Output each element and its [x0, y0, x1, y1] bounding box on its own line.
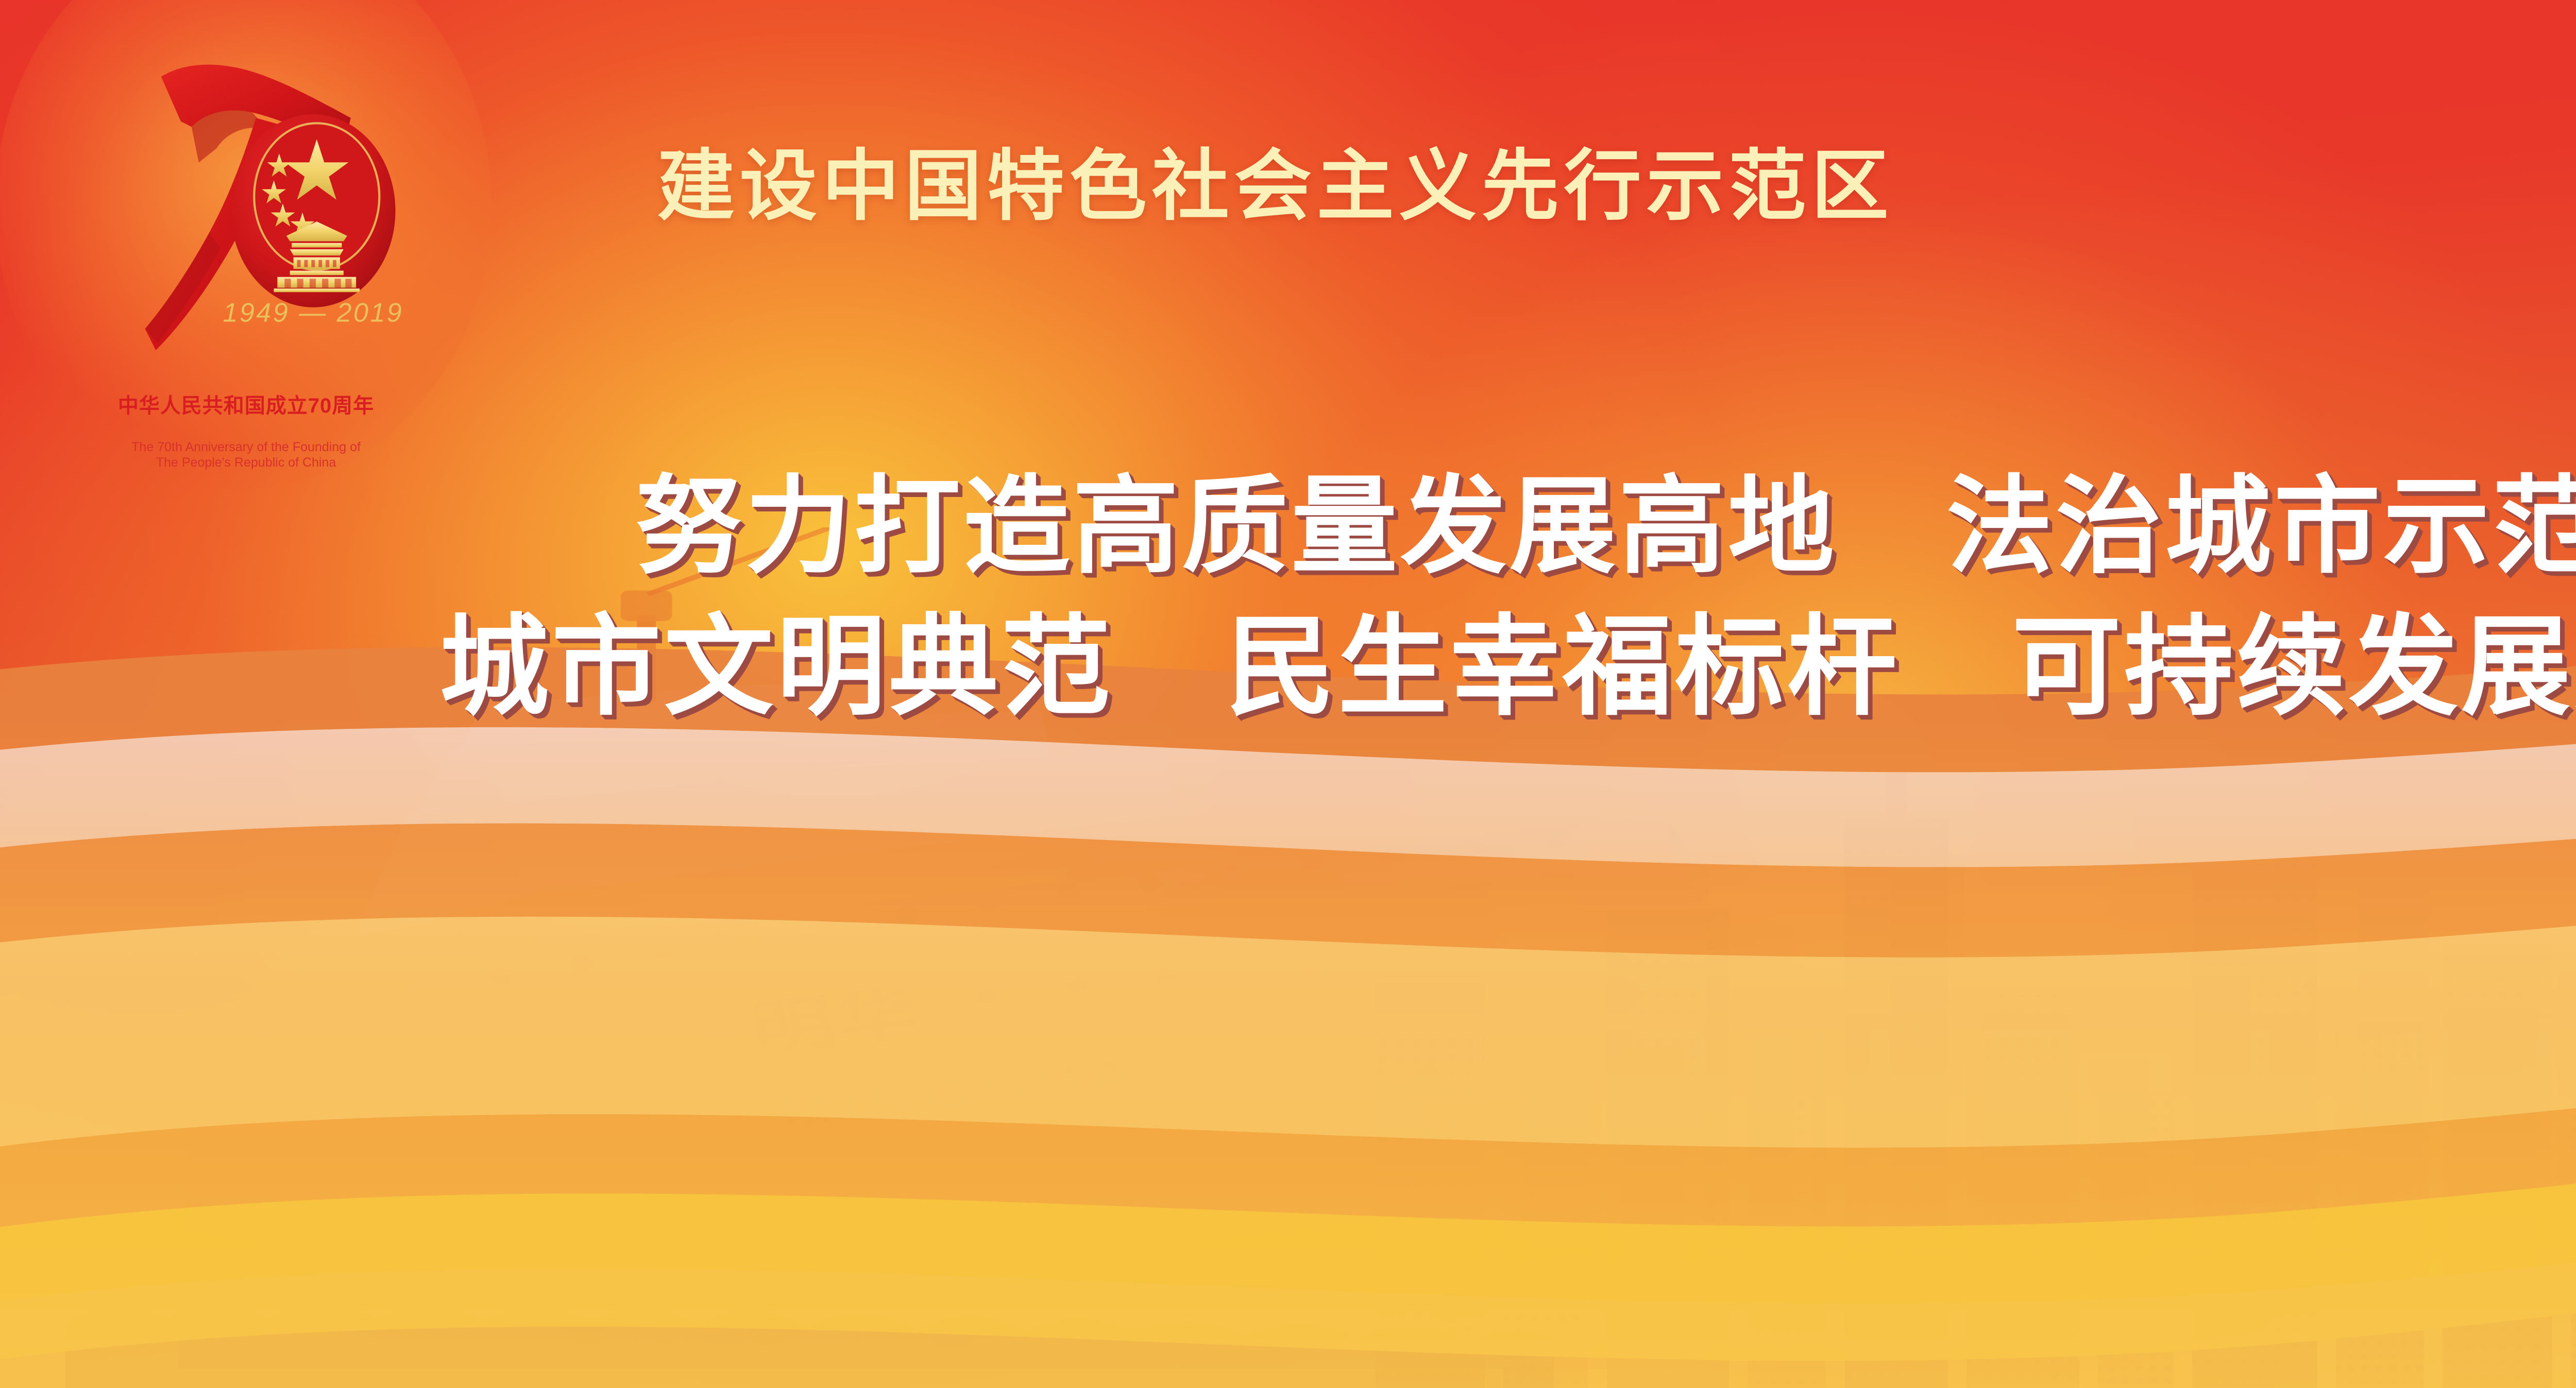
anniversary-emblem: 1949 — 2019 [56, 14, 431, 397]
emblem-year-range-glyph: 1949 — 2019 [223, 298, 404, 328]
page-title: 建设中国特色社会主义先行示范区 [657, 147, 1894, 225]
emblem-caption-en-line1: The 70th Anniversary of the Founding of [32, 440, 460, 455]
bottom-warm-overlay [0, 722, 2576, 1388]
propaganda-banner: 明华 MINGHUA [0, 0, 2576, 1388]
emblem-caption-en: The 70th Anniversary of the Founding of … [32, 440, 460, 470]
emblem-caption-cn: 中华人民共和国成立70周年 [32, 389, 460, 419]
emblem-caption-en-line2: The People's Republic of China [32, 455, 460, 471]
